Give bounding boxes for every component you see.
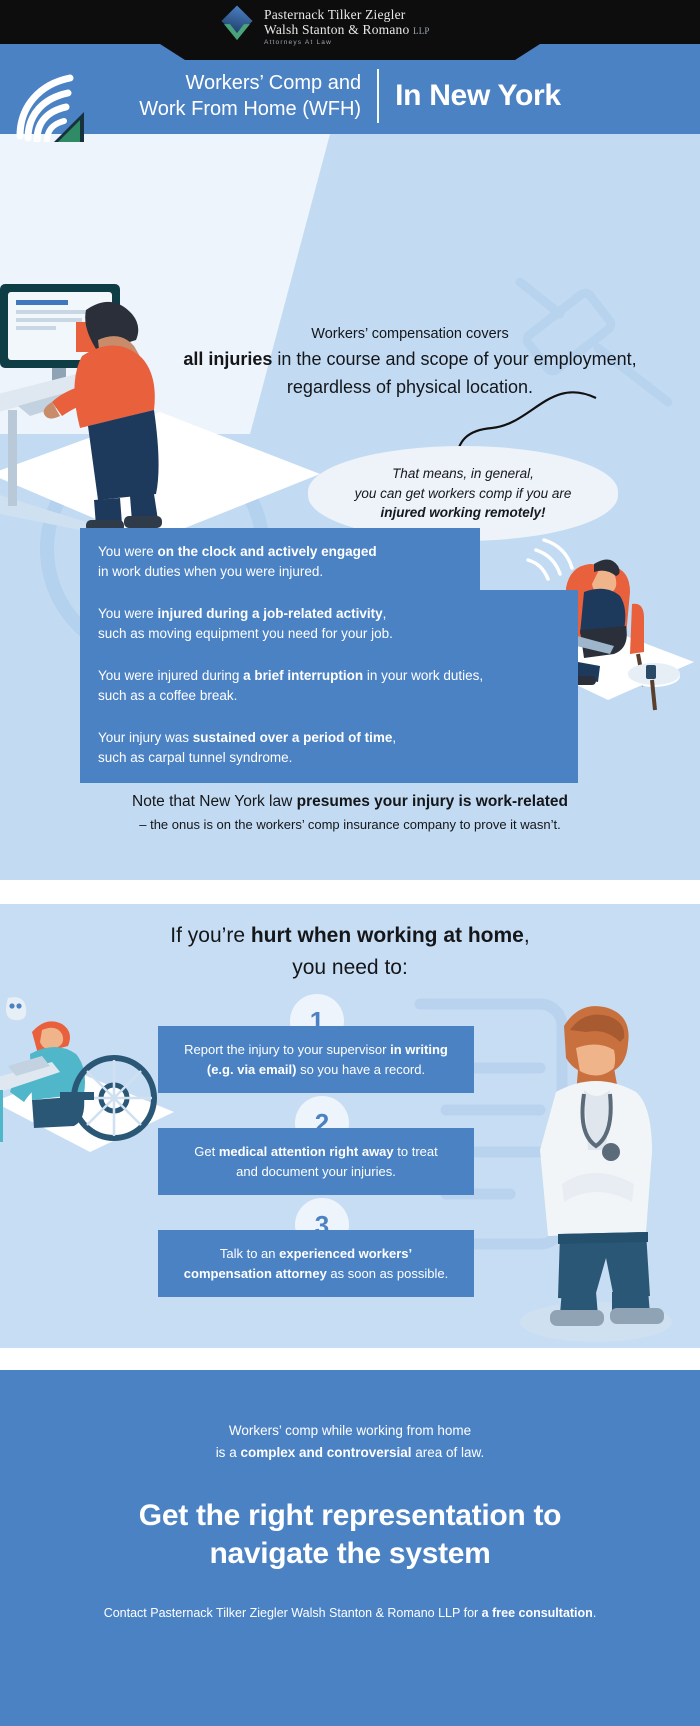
logo-llp: LLP xyxy=(413,26,430,36)
condition-3-pre: You were injured during xyxy=(98,668,243,683)
presumption-note: Note that New York law presumes your inj… xyxy=(60,790,640,836)
title-left: Workers’ Comp and Work From Home (WFH) xyxy=(139,70,377,122)
bubble-line2: you can get workers comp if you are xyxy=(355,484,572,504)
footer-lead-post: area of law. xyxy=(412,1445,485,1460)
footer-lead-bold: complex and controversial xyxy=(240,1445,411,1460)
section-coverage: Workers’ compensation covers all injurie… xyxy=(0,134,700,880)
condition-bar-3: You were injured during a brief interrup… xyxy=(80,652,578,721)
footer-contact-bold: a free consultation xyxy=(482,1606,593,1620)
step-1-line2-bold: (e.g. via email) xyxy=(207,1062,297,1077)
condition-4-post: , xyxy=(392,730,396,745)
logo-line-2: Walsh Stanton & Romano xyxy=(264,22,409,37)
condition-3-bold: a brief interruption xyxy=(243,668,363,683)
steps-head-bold: hurt when working at home xyxy=(251,924,524,947)
condition-1-line2: in work duties when you were injured. xyxy=(98,562,462,582)
footer-headline-line1: Get the right representation to xyxy=(0,1497,700,1535)
condition-3-post: in your work duties, xyxy=(363,668,483,683)
logo-diamond-check-icon xyxy=(222,10,256,44)
footer-contact: Contact Pasternack Tilker Ziegler Walsh … xyxy=(0,1606,700,1620)
footer-headline: Get the right representation to navigate… xyxy=(0,1497,700,1572)
title-right: In New York xyxy=(379,79,561,113)
title-left-line2: Work From Home (WFH) xyxy=(139,96,361,122)
condition-2-bold: injured during a job-related activity xyxy=(158,606,383,621)
condition-2-post: , xyxy=(383,606,387,621)
step-3-bold: experienced workers’ xyxy=(279,1246,412,1261)
note-line2: – the onus is on the workers’ comp insur… xyxy=(60,815,640,836)
section-divider-2 xyxy=(0,1348,700,1370)
condition-1-pre: You were xyxy=(98,544,158,559)
speech-bubble: That means, in general, you can get work… xyxy=(308,446,618,541)
condition-4-pre: Your injury was xyxy=(98,730,193,745)
bubble-line3: injured working remotely! xyxy=(380,505,545,520)
infographic-page: Pasternack Tilker Ziegler Walsh Stanton … xyxy=(0,0,700,1726)
condition-1-bold: on the clock and actively engaged xyxy=(158,544,377,559)
step-3-line2-bold: compensation attorney xyxy=(184,1266,327,1281)
footer-contact-post: . xyxy=(593,1606,596,1620)
condition-2-pre: You were xyxy=(98,606,158,621)
step-1-line2-rest: so you have a record. xyxy=(296,1062,425,1077)
section-steps: If you’re hurt when working at home, you… xyxy=(0,904,700,1348)
step-2-line2: and document your injuries. xyxy=(172,1162,460,1182)
condition-bar-1: You were on the clock and actively engag… xyxy=(80,528,480,597)
bubble-line1: That means, in general, xyxy=(355,464,572,484)
condition-bar-2: You were injured during a job-related ac… xyxy=(80,590,578,659)
step-card-1: Report the injury to your supervisor in … xyxy=(158,1026,474,1093)
condition-4-bold: sustained over a period of time xyxy=(193,730,393,745)
step-2-bold: medical attention right away xyxy=(219,1144,394,1159)
step-2-pre: Get xyxy=(194,1144,219,1159)
title-divider xyxy=(377,69,379,123)
note-bold: presumes your injury is work-related xyxy=(297,793,568,810)
title-block: Workers’ Comp and Work From Home (WFH) I… xyxy=(0,58,700,134)
logo-tagline: Attorneys At Law xyxy=(264,39,430,46)
coverage-lead-line1: Workers’ compensation covers xyxy=(150,324,670,346)
condition-bar-4: Your injury was sustained over a period … xyxy=(80,714,578,783)
footer-lead-line1: Workers’ comp while working from home xyxy=(0,1420,700,1442)
coverage-lead-rest: in the course and scope of your employme… xyxy=(272,349,636,369)
footer-lead-pre: is a xyxy=(216,1445,241,1460)
step-3-line2-rest: as soon as possible. xyxy=(327,1266,448,1281)
title-left-line1: Workers’ Comp and xyxy=(139,70,361,96)
step-3-pre: Talk to an xyxy=(220,1246,279,1261)
steps-head-pre: If you’re xyxy=(170,924,251,947)
condition-4-line2: such as carpal tunnel syndrome. xyxy=(98,748,560,768)
step-card-3: Talk to an experienced workers’ compensa… xyxy=(158,1230,474,1297)
footer-contact-pre: Contact Pasternack Tilker Ziegler Walsh … xyxy=(104,1606,482,1620)
footer-cta: Workers’ comp while working from home is… xyxy=(0,1370,700,1726)
step-1-pre: Report the injury to your supervisor xyxy=(184,1042,390,1057)
condition-3-line2: such as a coffee break. xyxy=(98,686,560,706)
coverage-lead-bold: all injuries xyxy=(183,349,272,369)
footer-headline-line2: navigate the system xyxy=(0,1535,700,1573)
steps-head-post: , xyxy=(524,924,530,947)
step-card-2: Get medical attention right away to trea… xyxy=(158,1128,474,1195)
step-2-post: to treat xyxy=(394,1144,438,1159)
firm-logo: Pasternack Tilker Ziegler Walsh Stanton … xyxy=(222,8,430,46)
section-divider-1 xyxy=(0,880,700,904)
note-pre: Note that New York law xyxy=(132,793,297,810)
step-1-bold: in writing xyxy=(390,1042,448,1057)
doctor-illustration xyxy=(500,984,690,1344)
condition-2-line2: such as moving equipment you need for yo… xyxy=(98,624,560,644)
footer-lead: Workers’ comp while working from home is… xyxy=(0,1420,700,1463)
logo-line-1: Pasternack Tilker Ziegler xyxy=(264,8,430,23)
